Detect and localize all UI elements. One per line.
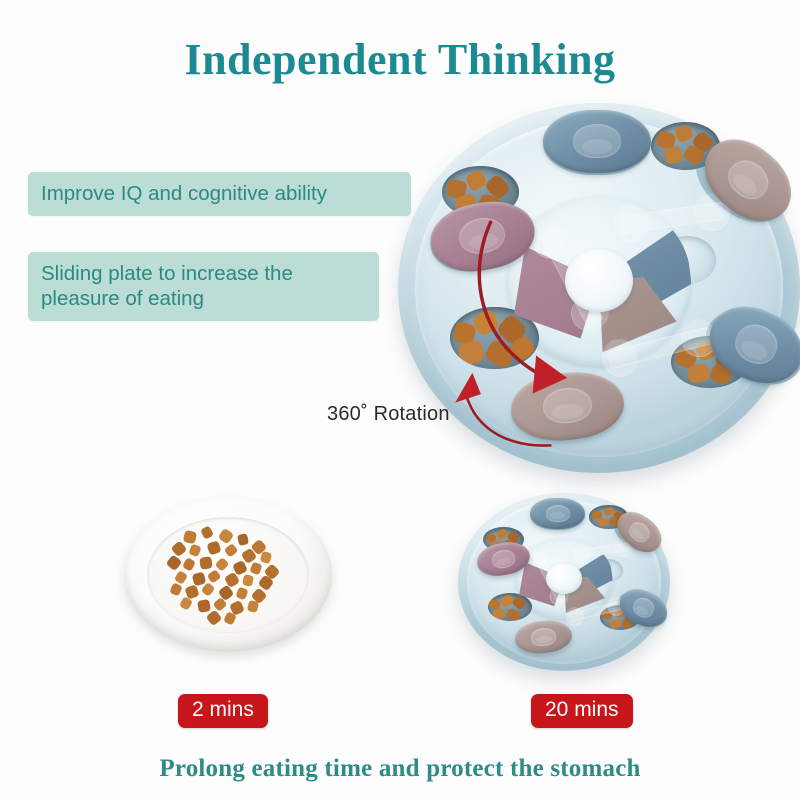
food-plate-image — [124, 497, 332, 652]
status-badge-20mins: 20 mins — [531, 694, 633, 728]
paw-icon — [531, 627, 558, 646]
infographic-canvas: Independent Thinking — [0, 0, 800, 800]
product-image-small-puzzle-toy — [458, 493, 670, 671]
product-image-main-puzzle-toy — [398, 103, 800, 473]
feature-callout-line2: pleasure of eating — [41, 286, 366, 311]
kibble-pile — [166, 525, 295, 624]
feature-callout-text: Improve IQ and cognitive ability — [41, 182, 327, 205]
rotation-label: 360˚ Rotation — [327, 403, 450, 426]
paw-icon — [546, 505, 570, 521]
center-hub — [546, 563, 582, 593]
paw-icon — [573, 124, 621, 157]
paw-icon — [491, 548, 517, 568]
paw-icon — [721, 153, 776, 207]
paw-icon — [630, 595, 657, 620]
page-title: Independent Thinking — [0, 34, 800, 85]
sliding-cover-blue[interactable] — [543, 110, 652, 173]
paw-icon — [730, 319, 784, 370]
rotation-arrow-icon — [446, 362, 559, 458]
sliding-cover-blue[interactable] — [530, 498, 585, 528]
paw-icon — [626, 518, 653, 544]
feature-callout-line1: Sliding plate to increase the — [41, 261, 366, 286]
feature-callout-sliding-plate: Sliding plate to increase the pleasure o… — [28, 252, 379, 321]
feature-callout-iq: Improve IQ and cognitive ability — [28, 172, 411, 216]
status-badge-2mins: 2 mins — [178, 694, 268, 728]
page-footer-tagline: Prolong eating time and protect the stom… — [0, 755, 800, 783]
